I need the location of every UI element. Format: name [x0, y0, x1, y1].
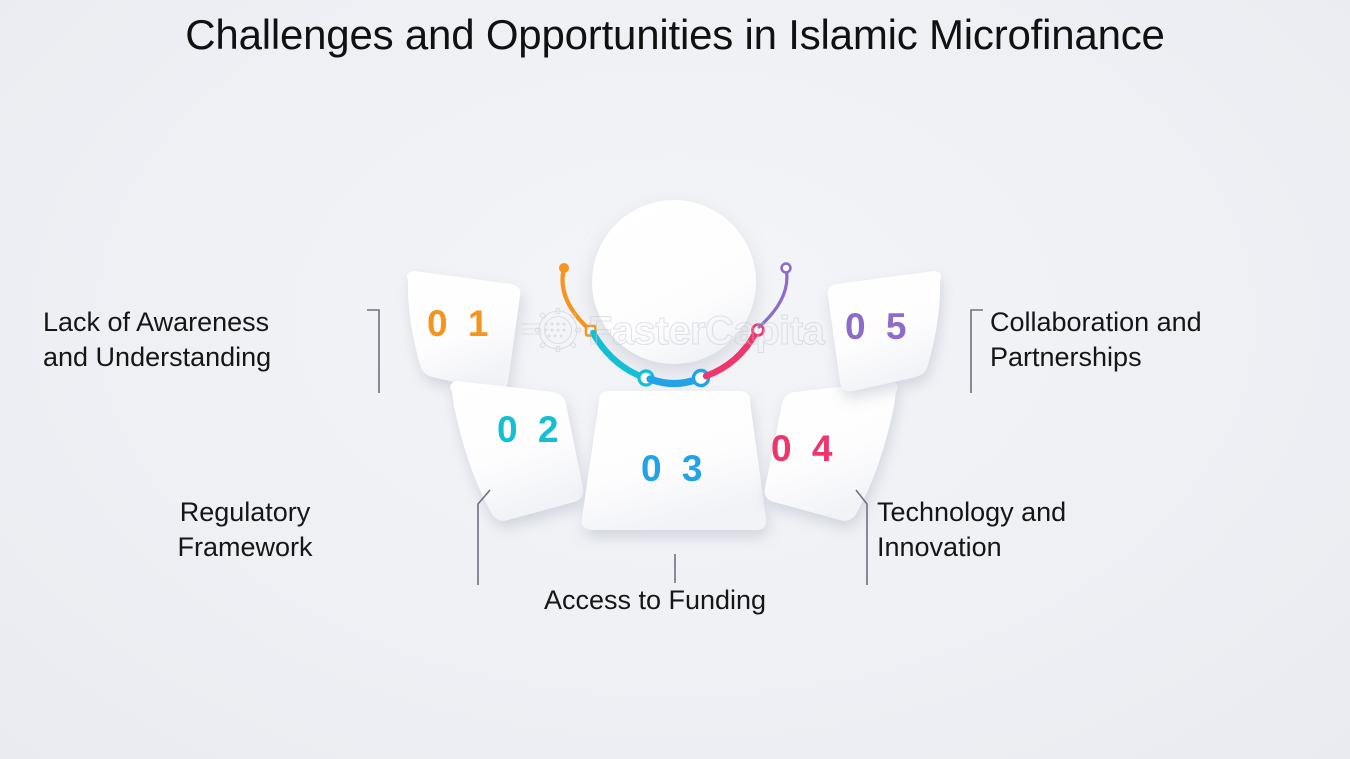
- arc-endpoint-purple: [782, 264, 791, 273]
- arc-endpoint-orange: [559, 263, 569, 273]
- caption-access-to-funding: Access to Funding: [455, 583, 855, 618]
- infographic-diagram: 0 1 0 2 0 3 0 4 0 5 Lack of Awareness an…: [0, 0, 1350, 759]
- petal-number-01: 0 1: [427, 303, 493, 345]
- arc-segment-blue: [650, 379, 698, 384]
- petal-number-03: 0 3: [641, 448, 707, 490]
- arc-segment-orange: [563, 268, 591, 331]
- arc-segment-purple: [759, 268, 787, 327]
- caption-lack-of-awareness: Lack of Awareness and Understanding: [43, 305, 363, 375]
- caption-collaboration-and-partnerships: Collaboration and Partnerships: [990, 305, 1320, 375]
- caption-regulatory-framework: Regulatory Framework: [60, 495, 430, 565]
- center-circle: [592, 200, 756, 364]
- caption-technology-and-innovation: Technology and Innovation: [877, 495, 1207, 565]
- petal-number-04: 0 4: [771, 428, 837, 470]
- petal-number-02: 0 2: [497, 409, 563, 451]
- petal-number-05: 0 5: [845, 306, 911, 348]
